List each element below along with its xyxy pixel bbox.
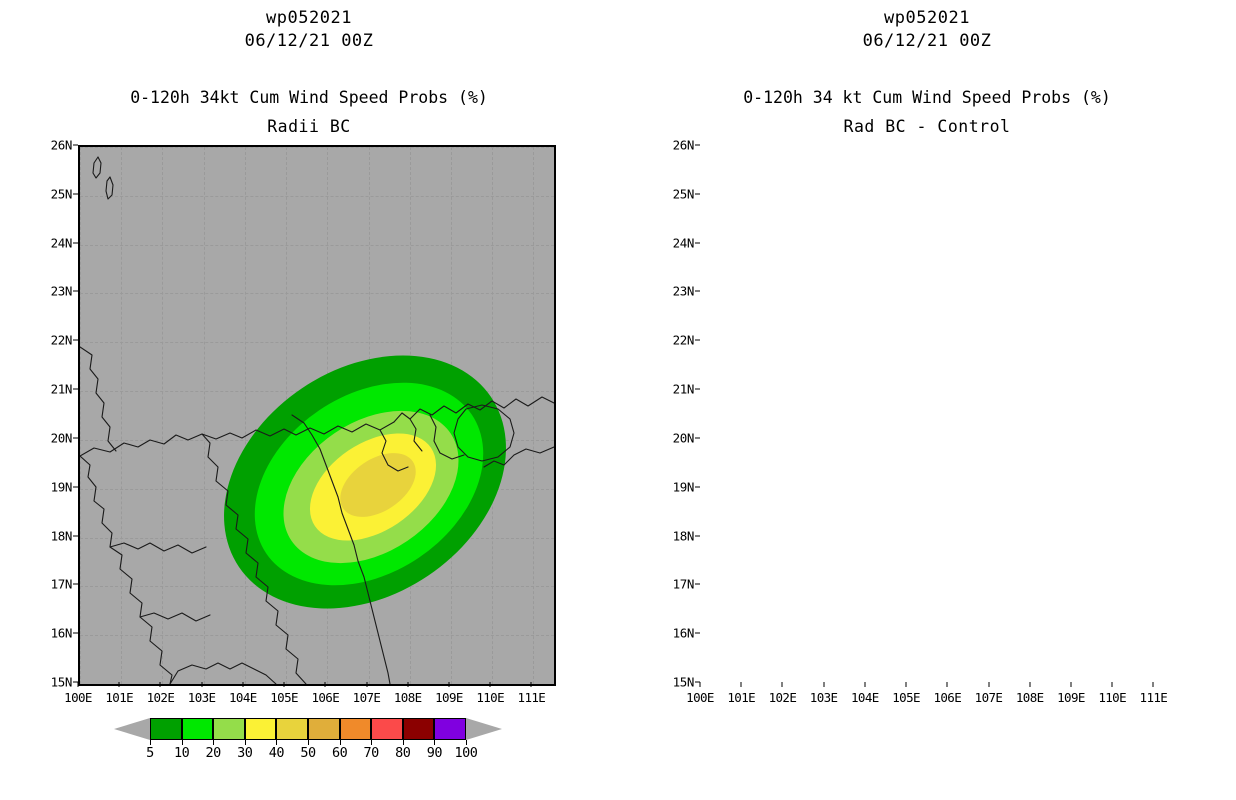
y-axis-tick [695,291,700,292]
y-axis-tick-label: 24N [26,235,72,250]
gridline-horizontal [80,684,554,685]
y-axis-tick [73,193,78,194]
y-axis-tick-label: 23N [26,284,72,299]
x-axis-tick [700,682,701,687]
x-axis-tick-label: 108E [386,690,430,705]
x-axis-tick-label: 104E [221,690,265,705]
x-axis-tick-label: 111E [1131,690,1175,705]
colorbar-left[interactable]: 5102030405060708090100 [150,718,466,740]
x-axis-tick [201,682,202,687]
y-axis-tick-label: 19N [648,479,694,494]
y-axis-tick-label: 26N [648,138,694,153]
x-axis-tick-label: 100E [56,690,100,705]
y-axis-tick [695,242,700,243]
panel-subtitle-right: Rad BC - Control [618,117,1236,136]
x-axis-tick [988,682,989,687]
y-axis-tick [695,145,700,146]
x-axis-tick-label: 106E [303,690,347,705]
x-axis-tick-label: 105E [884,690,928,705]
y-axis-tick [695,486,700,487]
y-axis-tick [73,486,78,487]
colorbar-high-cap [466,718,502,740]
y-axis-tick-label: 20N [648,430,694,445]
x-axis-tick-label: 101E [719,690,763,705]
x-axis-tick-label: 110E [468,690,512,705]
y-axis-tick [73,535,78,536]
x-axis-tick [284,682,285,687]
colorbar-low-cap [114,718,150,740]
y-axis-tick [73,389,78,390]
storm-date-left: 06/12/21 00Z [0,31,618,51]
storm-id-left: wp052021 [0,8,618,28]
y-axis-tick-label: 21N [26,382,72,397]
y-axis-tick-label: 20N [26,430,72,445]
x-axis-tick-label: 110E [1090,690,1134,705]
storm-id-right: wp052021 [618,8,1236,28]
colorbar-segment[interactable] [371,718,403,740]
x-axis-tick-label: 101E [97,690,141,705]
x-axis-tick [531,682,532,687]
y-axis-tick [73,242,78,243]
colorbar-segment[interactable] [434,718,466,740]
x-axis-tick-label: 109E [427,690,471,705]
colorbar-segment[interactable] [340,718,372,740]
figure-root: wp052021 06/12/21 00Z 0-120h 34kt Cum Wi… [0,0,1236,800]
y-axis-tick-label: 17N [648,577,694,592]
y-axis-tick-label: 23N [648,284,694,299]
y-axis-tick-label: 25N [26,186,72,201]
colorbar-segment[interactable] [213,718,245,740]
y-axis-tick-label: 24N [648,235,694,250]
x-axis-tick [448,682,449,687]
y-axis-tick-label: 16N [648,626,694,641]
y-axis-tick-label: 21N [648,382,694,397]
y-axis-tick-label: 19N [26,479,72,494]
y-axis-tick [73,584,78,585]
x-axis-tick [325,682,326,687]
y-axis-tick [695,389,700,390]
y-axis-tick [695,437,700,438]
y-axis-tick [73,437,78,438]
colorbar-segment[interactable] [403,718,435,740]
y-axis-tick [73,145,78,146]
coastlines-left [80,147,554,684]
x-axis-tick [119,682,120,687]
x-axis-tick-label: 103E [180,690,224,705]
x-axis-tick-label: 106E [925,690,969,705]
panel-title-left: 0-120h 34kt Cum Wind Speed Probs (%) [0,88,618,107]
colorbar-tick-label: 100 [443,745,489,761]
y-axis-tick [695,633,700,634]
y-axis-tick [695,584,700,585]
x-axis-tick-label: 108E [1008,690,1052,705]
x-axis-tick [407,682,408,687]
x-axis-tick [78,682,79,687]
y-axis-tick-label: 17N [26,577,72,592]
x-axis-tick-label: 104E [843,690,887,705]
x-axis-tick-label: 109E [1049,690,1093,705]
y-axis-tick-label: 15N [26,675,72,690]
y-axis-tick [695,193,700,194]
x-axis-tick [1029,682,1030,687]
y-axis-tick-label: 15N [648,675,694,690]
x-axis-tick-label: 107E [345,690,389,705]
colorbar-segment[interactable] [150,718,182,740]
colorbar-segment[interactable] [276,718,308,740]
x-axis-tick [864,682,865,687]
x-axis-tick-label: 100E [678,690,722,705]
y-axis-tick-label: 22N [26,333,72,348]
storm-date-right: 06/12/21 00Z [618,31,1236,51]
x-axis-tick [490,682,491,687]
x-axis-tick [741,682,742,687]
x-axis-tick [1070,682,1071,687]
x-axis-tick [906,682,907,687]
panel-radii-bc: wp052021 06/12/21 00Z 0-120h 34kt Cum Wi… [0,0,618,800]
panel-title-right: 0-120h 34 kt Cum Wind Speed Probs (%) [618,88,1236,107]
x-axis-tick [1153,682,1154,687]
y-axis-tick [73,633,78,634]
y-axis-tick-label: 25N [648,186,694,201]
y-axis-tick-label: 18N [648,528,694,543]
colorbar-segment[interactable] [182,718,214,740]
x-axis-tick [1112,682,1113,687]
x-axis-tick-label: 107E [967,690,1011,705]
y-axis-tick-label: 22N [648,333,694,348]
y-axis-tick-label: 18N [26,528,72,543]
panel-rad-bc-minus-control: wp052021 06/12/21 00Z 0-120h 34 kt Cum W… [618,0,1236,800]
y-axis-tick [73,291,78,292]
x-axis-tick [366,682,367,687]
y-axis-tick [695,535,700,536]
y-axis-tick-label: 26N [26,138,72,153]
x-axis-tick-label: 102E [138,690,182,705]
x-axis-tick-label: 105E [262,690,306,705]
x-axis-tick-label: 111E [509,690,553,705]
x-axis-tick [947,682,948,687]
x-axis-tick [823,682,824,687]
y-axis-tick [73,340,78,341]
colorbar-segment[interactable] [308,718,340,740]
map-plot-left [78,145,556,686]
x-axis-tick [782,682,783,687]
x-axis-tick-label: 103E [802,690,846,705]
x-axis-tick-label: 102E [760,690,804,705]
colorbar-segment[interactable] [245,718,277,740]
y-axis-tick [695,340,700,341]
y-axis-tick-label: 16N [26,626,72,641]
panel-subtitle-left: Radii BC [0,117,618,136]
x-axis-tick [242,682,243,687]
x-axis-tick [160,682,161,687]
